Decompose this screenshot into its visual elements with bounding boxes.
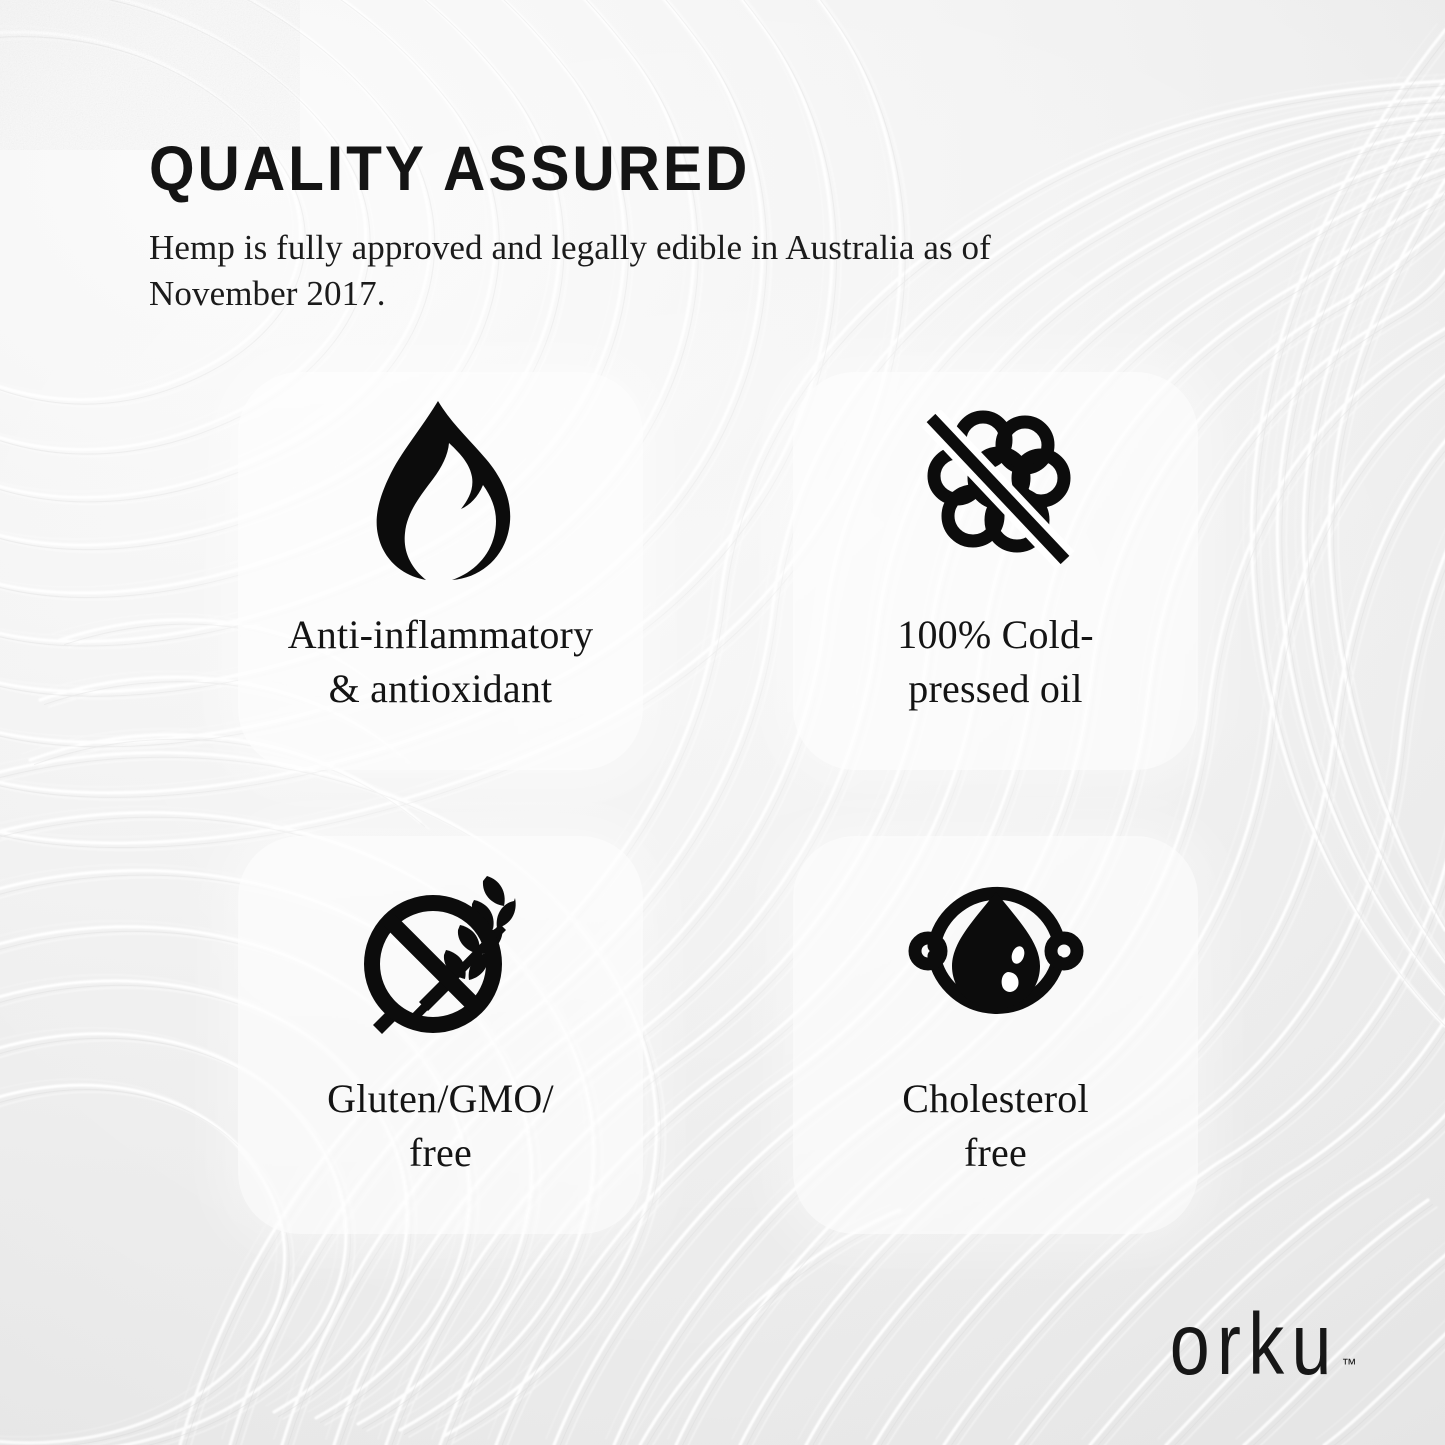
feature-card-cholesterol-free[interactable]: Cholesterol free	[793, 836, 1198, 1234]
feature-card-label: Anti-inflammatory & antioxidant	[274, 608, 608, 715]
feature-card-label: 100% Cold- pressed oil	[883, 608, 1107, 715]
cholesterol-droplet-icon	[793, 836, 1198, 1072]
brand-logo[interactable]: orku ™	[1155, 1313, 1357, 1383]
no-seed-cluster-icon	[793, 372, 1198, 608]
poster-content: QUALITY ASSURED Hemp is fully approved a…	[0, 0, 1445, 1445]
brand-logo-wordmark: orku	[1169, 1304, 1338, 1383]
feature-card-grid: Anti-inflammatory & antioxidant	[238, 372, 1198, 1234]
flame-icon	[238, 372, 643, 608]
header-block: QUALITY ASSURED Hemp is fully approved a…	[149, 138, 1269, 316]
feature-card-label: Gluten/GMO/ free	[313, 1072, 568, 1179]
page-title: QUALITY ASSURED	[149, 138, 1191, 201]
page-subtitle: Hemp is fully approved and legally edibl…	[149, 225, 1069, 316]
feature-card-label: Cholesterol free	[888, 1072, 1103, 1179]
feature-card-cold-pressed[interactable]: 100% Cold- pressed oil	[793, 372, 1198, 770]
no-wheat-icon	[238, 836, 643, 1072]
trademark-symbol: ™	[1342, 1356, 1358, 1373]
poster-canvas: QUALITY ASSURED Hemp is fully approved a…	[0, 0, 1445, 1445]
feature-card-gluten-gmo-free[interactable]: Gluten/GMO/ free	[238, 836, 643, 1234]
feature-card-anti-inflammatory[interactable]: Anti-inflammatory & antioxidant	[238, 372, 643, 770]
